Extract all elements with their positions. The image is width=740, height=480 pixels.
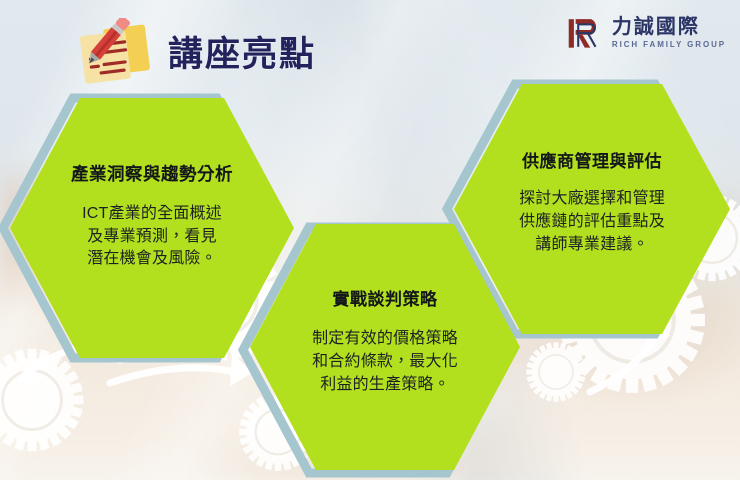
hex-3-body: 探討大廠選擇和管理 供應鏈的評估重點及 講師專業建議。 — [519, 188, 665, 256]
logo-text-block: 力誠國際 RICH FAMILY GROUP — [612, 17, 726, 49]
hex-1-body-line-1: ICT產業的全面概述 — [82, 203, 222, 226]
hex-2-body: 制定有效的價格策略 和合約條款，最大化 利益的生產策略。 — [312, 328, 458, 396]
rich-family-r-monogram-icon — [567, 14, 605, 52]
hex-1-heading: 產業洞察與趨勢分析 — [71, 164, 233, 185]
hex-negotiation-strategy[interactable]: 實戰談判策略 制定有效的價格策略 和合約條款，最大化 利益的生產策略。 — [248, 222, 522, 472]
hex-2-body-line-3: 利益的生產策略。 — [312, 374, 458, 397]
hex-1-body: ICT產業的全面概述 及專業預測，看見 潛在機會及風險。 — [82, 203, 222, 271]
page-title-group: 講座亮點 — [72, 18, 316, 90]
hex-1-body-line-3: 潛在機會及風險。 — [82, 248, 222, 271]
hex-2-body-line-1: 制定有效的價格策略 — [312, 328, 458, 351]
notepad-pencil-icon — [72, 18, 160, 90]
hex-3-body-line-1: 探討大廠選擇和管理 — [519, 188, 665, 211]
slide-canvas: 講座亮點 力誠國際 RICH FAMILY GROUP 產業洞 — [0, 0, 740, 480]
brand-logo: 力誠國際 RICH FAMILY GROUP — [567, 14, 726, 52]
page-title: 講座亮點 — [168, 37, 316, 72]
logo-chinese-name: 力誠國際 — [612, 17, 726, 37]
hex-2-content: 實戰談判策略 制定有效的價格策略 和合約條款，最大化 利益的生產策略。 — [248, 222, 522, 472]
hex-2-heading: 實戰談判策略 — [333, 290, 438, 310]
logo-english-name: RICH FAMILY GROUP — [612, 41, 726, 49]
hex-2-body-line-2: 和合約條款，最大化 — [312, 351, 458, 374]
hex-1-body-line-2: 及專業預測，看見 — [82, 226, 222, 249]
hex-3-body-line-3: 講師專業建議。 — [519, 234, 665, 257]
hex-3-body-line-2: 供應鏈的評估重點及 — [519, 211, 665, 234]
hex-3-heading: 供應商管理與評估 — [522, 152, 662, 172]
